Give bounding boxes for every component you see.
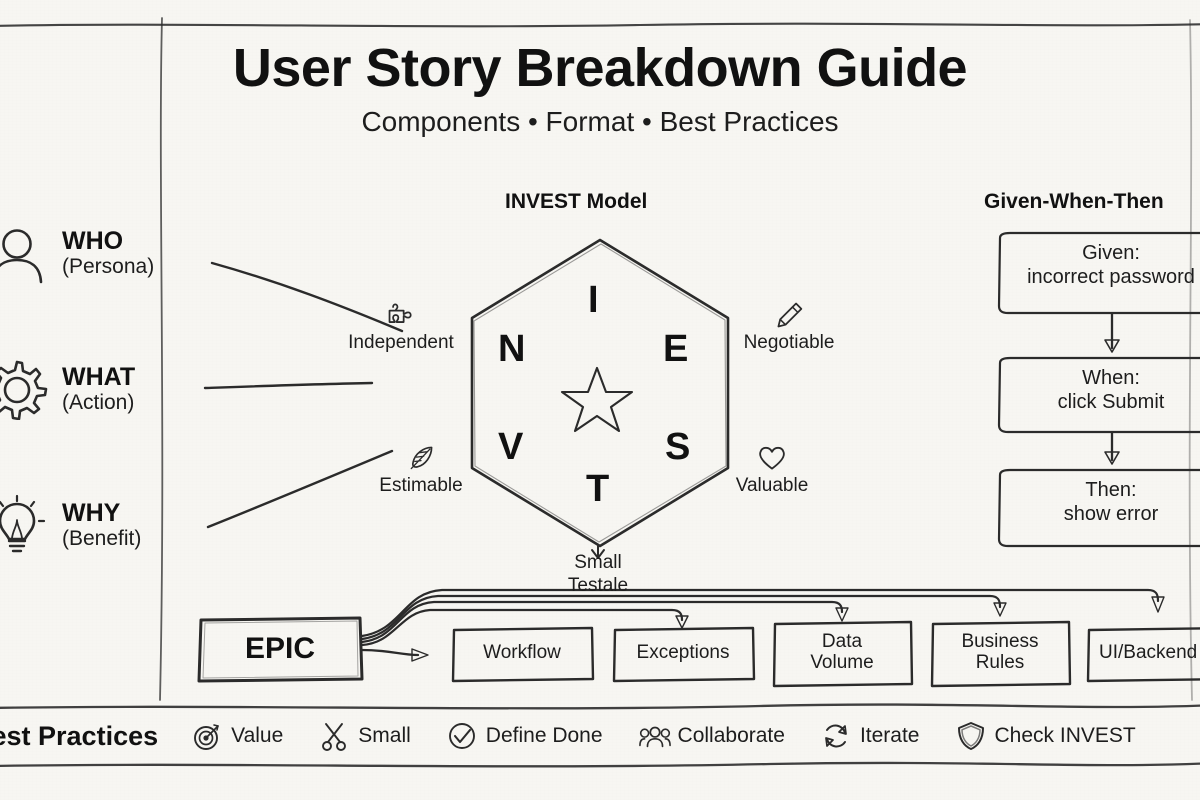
invest-letter-n: N — [498, 330, 525, 368]
epic-box[interactable]: EPIC — [200, 620, 360, 678]
person-icon — [0, 222, 48, 284]
invest-side-label-negotiable: Negotiable — [723, 332, 855, 353]
component-label-who: WHO — [62, 228, 154, 254]
invest-letter-v: V — [498, 428, 523, 466]
best-practice-value-label: Value — [231, 724, 283, 748]
check-circle-icon — [447, 721, 477, 751]
epic-child-ui-backend-label: UI/Backend — [1099, 642, 1197, 663]
invest-side-label-independent: Independent — [335, 332, 467, 353]
invest-side-label-valuable: Valuable — [706, 475, 838, 496]
shield-icon — [956, 721, 986, 751]
given-when-then-heading: Given-When-Then — [984, 190, 1164, 214]
gear-icon — [0, 358, 48, 420]
whiteboard-canvas: User Story Breakdown Guide Components • … — [0, 0, 1200, 800]
best-practices-title: Best Practices — [0, 721, 158, 752]
gwt-step-then-line1: Then: — [1003, 479, 1200, 503]
gwt-step-then[interactable]: Then: show error — [997, 470, 1200, 535]
best-practice-iterate[interactable]: Iterate — [821, 721, 920, 751]
heart-icon — [706, 443, 838, 475]
best-practice-small-label: Small — [358, 724, 411, 748]
epic-child-exceptions[interactable]: Exceptions — [613, 628, 753, 678]
invest-side-label-estimable: Estimable — [355, 475, 487, 496]
target-icon — [192, 721, 222, 751]
epic-child-data-volume[interactable]: Data Volume — [773, 622, 911, 684]
epic-child-workflow-label: Workflow — [483, 642, 561, 663]
epic-child-business-rules-line1: Business — [961, 632, 1038, 653]
component-label-why: WHY — [62, 500, 141, 526]
gwt-step-given[interactable]: Given: incorrect password — [997, 233, 1200, 298]
epic-child-ui-backend[interactable]: UI/Backend — [1087, 628, 1200, 678]
component-sub-what: (Action) — [62, 391, 135, 414]
epic-child-workflow[interactable]: Workflow — [452, 628, 592, 678]
puzzle-icon — [335, 300, 467, 332]
invest-side-valuable: Valuable — [706, 443, 838, 496]
invest-letter-e: E — [663, 330, 688, 368]
gwt-step-when[interactable]: When: click Submit — [997, 358, 1200, 423]
invest-side-negotiable: Negotiable — [723, 300, 855, 353]
invest-side-estimable: Estimable — [355, 443, 487, 496]
best-practice-collaborate-label: Collaborate — [678, 724, 785, 748]
best-practices-bar: Best Practices Value — [0, 707, 1200, 765]
best-practice-value[interactable]: Value — [192, 721, 283, 751]
invest-bottom-line1: Small — [532, 552, 664, 575]
component-row-what: WHAT (Action) — [0, 358, 135, 420]
best-practice-define-done[interactable]: Define Done — [447, 721, 603, 751]
component-row-why: WHY (Benefit) — [0, 494, 141, 556]
page-title: User Story Breakdown Guide — [0, 40, 1200, 97]
epic-child-exceptions-label: Exceptions — [637, 642, 730, 663]
header: User Story Breakdown Guide Components • … — [0, 40, 1200, 137]
invest-bottom-label: Small Testale — [532, 552, 664, 598]
invest-letter-s: S — [665, 428, 690, 466]
best-practice-collaborate[interactable]: Collaborate — [639, 721, 785, 751]
best-practice-check-invest[interactable]: Check INVEST — [956, 721, 1136, 751]
best-practice-check-invest-label: Check INVEST — [995, 724, 1136, 748]
component-sub-who: (Persona) — [62, 255, 154, 278]
invest-model-heading: INVEST Model — [505, 190, 647, 214]
best-practice-iterate-label: Iterate — [860, 724, 920, 748]
invest-bottom-line2: Testale — [532, 575, 664, 598]
pencil-icon — [723, 300, 855, 332]
lightbulb-icon — [0, 494, 48, 556]
invest-letter-t: T — [586, 470, 609, 508]
best-practice-define-done-label: Define Done — [486, 724, 603, 748]
scissors-icon — [319, 721, 349, 751]
invest-side-independent: Independent — [335, 300, 467, 353]
invest-letter-i: I — [588, 281, 599, 319]
gwt-step-given-line1: Given: — [1003, 242, 1200, 266]
epic-child-data-volume-line1: Data — [810, 632, 873, 653]
gwt-step-when-line1: When: — [1003, 367, 1200, 391]
epic-child-data-volume-line2: Volume — [810, 653, 873, 674]
gwt-step-when-line2: click Submit — [1003, 391, 1200, 415]
component-sub-why: (Benefit) — [62, 527, 141, 550]
best-practice-small[interactable]: Small — [319, 721, 411, 751]
component-label-what: WHAT — [62, 364, 135, 390]
feather-icon — [355, 443, 487, 475]
people-icon — [639, 721, 669, 751]
epic-child-business-rules-line2: Rules — [961, 653, 1038, 674]
page-subtitle: Components • Format • Best Practices — [0, 107, 1200, 138]
epic-child-business-rules[interactable]: Business Rules — [931, 622, 1069, 684]
refresh-icon — [821, 721, 851, 751]
component-row-who: WHO (Persona) — [0, 222, 154, 284]
gwt-step-then-line2: show error — [1003, 503, 1200, 527]
gwt-step-given-line2: incorrect password — [1003, 266, 1200, 290]
